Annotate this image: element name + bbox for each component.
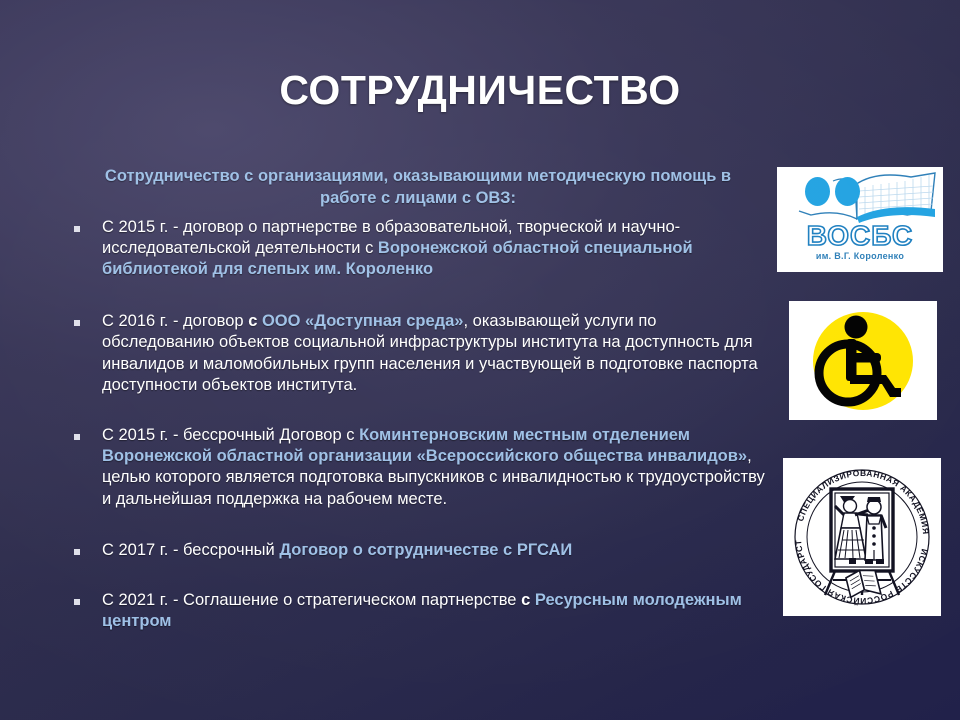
rgsai-academy-emblem-icon: СПЕЦИАЛИЗИРОВАННАЯ АКАДЕМИЯ ИСКУССТВ РОС…: [787, 462, 937, 612]
wheelchair-logo: [789, 301, 937, 420]
vosbs-subtext: им. В.Г. Короленко: [783, 251, 937, 261]
text-run: с: [521, 591, 535, 609]
bullet-marker-icon: [74, 226, 80, 232]
vosbs-logo: ВОСБС им. В.Г. Короленко: [777, 167, 943, 272]
bullet-text: С 2021 г. - Соглашение о стратегическом …: [102, 590, 766, 633]
text-run: С 2021 г. - Соглашение о стратегическом …: [102, 591, 521, 609]
subtitle-line-1: Сотрудничество с организациями, оказываю…: [105, 167, 646, 185]
rgsai-logo: СПЕЦИАЛИЗИРОВАННАЯ АКАДЕМИЯ ИСКУССТВ РОС…: [783, 458, 941, 616]
glasses-lens-left-icon: [805, 177, 830, 206]
bullet-text: С 2016 г. - договор с ООО «Доступная сре…: [102, 311, 766, 397]
list-item: С 2016 г. - договор с ООО «Доступная сре…: [66, 311, 766, 397]
slide-subtitle: Сотрудничество с организациями, оказываю…: [66, 166, 766, 210]
text-run: С 2016 г. - договор: [102, 312, 248, 330]
list-item: С 2015 г. - бессрочный Договор с Коминте…: [66, 425, 766, 511]
bullet-text: С 2017 г. - бессрочный Договор о сотрудн…: [102, 540, 766, 561]
slide-body: Сотрудничество с организациями, оказываю…: [66, 166, 766, 633]
text-run: С 2015 г. - бессрочный Договор с: [102, 426, 359, 444]
bullet-marker-icon: [74, 549, 80, 555]
glasses-lens-right-icon: [835, 177, 860, 206]
text-run: Договор о сотрудничестве с РГСАИ: [279, 541, 572, 559]
bullet-marker-icon: [74, 434, 80, 440]
text-run: С 2017 г. - бессрочный: [102, 541, 279, 559]
list-item: С 2015 г. - договор о партнерстве в обра…: [66, 217, 766, 281]
list-item: С 2021 г. - Соглашение о стратегическом …: [66, 590, 766, 633]
bullet-text: С 2015 г. - договор о партнерстве в обра…: [102, 217, 766, 281]
page-title: СОТРУДНИЧЕСТВО: [0, 68, 960, 113]
bullet-marker-icon: [74, 320, 80, 326]
bullet-text: С 2015 г. - бессрочный Договор с Коминте…: [102, 425, 766, 511]
list-item: С 2017 г. - бессрочный Договор о сотрудн…: [66, 540, 766, 561]
text-run: с: [248, 312, 262, 330]
wheelchair-accessibility-icon: [804, 305, 922, 417]
text-run: ООО «Доступная среда»: [262, 312, 464, 330]
presentation-slide: СОТРУДНИЧЕСТВО Сотрудничество с организа…: [0, 0, 960, 720]
vosbs-emblem-icon: [783, 171, 937, 223]
vosbs-wordmark: ВОСБС: [783, 223, 937, 250]
bullet-marker-icon: [74, 599, 80, 605]
